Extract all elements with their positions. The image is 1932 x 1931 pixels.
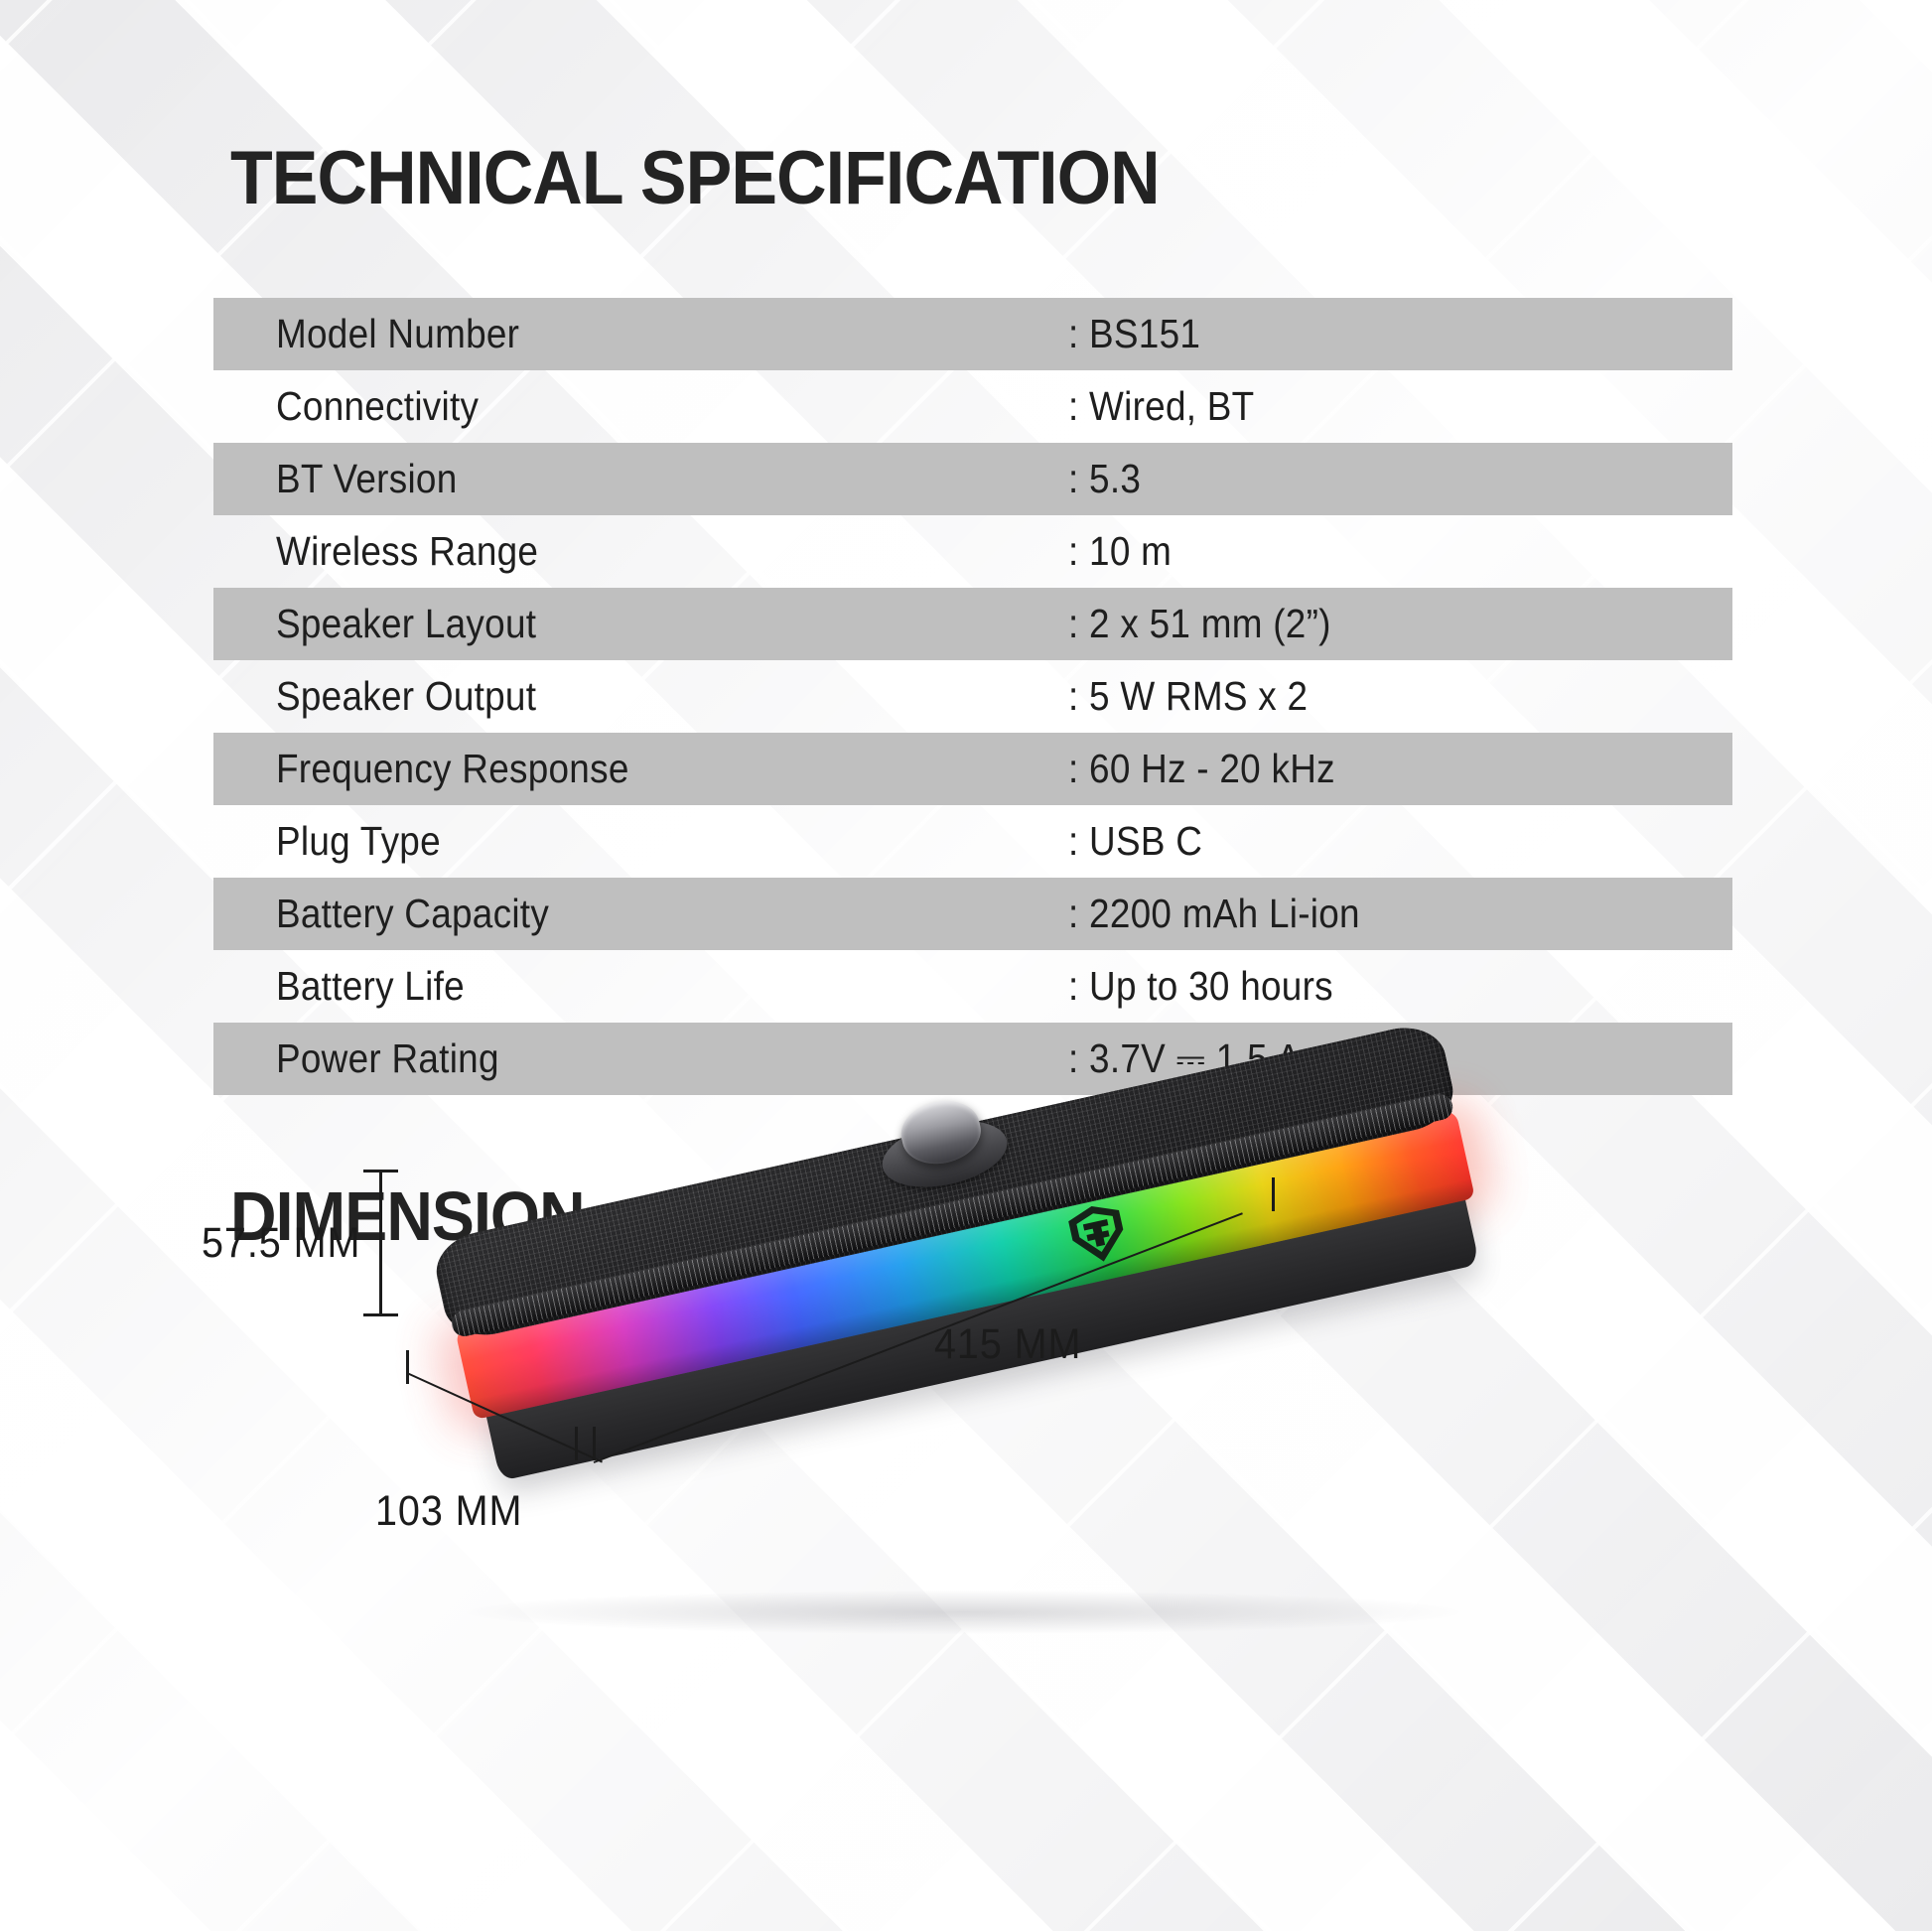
page-title-technical-specification: TECHNICAL SPECIFICATION bbox=[230, 135, 1160, 221]
spec-sheet-page: TECHNICAL SPECIFICATION Model Number : B… bbox=[0, 0, 1932, 1931]
height-dimension-cap-bottom bbox=[363, 1313, 398, 1316]
width-dimension-cap-left bbox=[593, 1427, 596, 1460]
depth-dimension-label: 103 MM bbox=[375, 1487, 522, 1536]
spec-label: Speaker Output bbox=[276, 673, 536, 720]
table-row: Plug Type : USB C bbox=[213, 805, 1732, 878]
spec-value: : 2200 mAh Li-ion bbox=[1068, 891, 1360, 937]
spec-value: : Wired, BT bbox=[1068, 383, 1254, 430]
table-row: Power Rating : 3.7V ⎓ 1.5 A bbox=[213, 1023, 1732, 1095]
table-row: BT Version : 5.3 bbox=[213, 443, 1732, 515]
spec-label: Wireless Range bbox=[276, 528, 538, 575]
spec-label: Connectivity bbox=[276, 383, 479, 430]
spec-label: Frequency Response bbox=[276, 746, 629, 792]
spec-label: Power Rating bbox=[276, 1035, 499, 1082]
width-dimension-label: 415 MM bbox=[934, 1320, 1081, 1369]
spec-label: Plug Type bbox=[276, 818, 441, 865]
table-row: Connectivity : Wired, BT bbox=[213, 370, 1732, 443]
spec-label: Model Number bbox=[276, 311, 519, 357]
height-dimension-label: 57.5 MM bbox=[202, 1219, 360, 1268]
depth-dimension-cap-right bbox=[575, 1427, 578, 1460]
table-row: Speaker Layout : 2 x 51 mm (2”) bbox=[213, 588, 1732, 660]
spec-label: Battery Capacity bbox=[276, 891, 549, 937]
spec-value: : 10 m bbox=[1068, 528, 1172, 575]
table-row: Battery Capacity : 2200 mAh Li-ion bbox=[213, 878, 1732, 950]
spec-label: Speaker Layout bbox=[276, 601, 536, 647]
height-dimension-cap-top bbox=[363, 1170, 398, 1172]
height-dimension-line bbox=[379, 1170, 382, 1316]
width-dimension-cap-right bbox=[1272, 1177, 1275, 1211]
spec-value: : 5 W RMS x 2 bbox=[1068, 673, 1308, 720]
spec-value: : 5.3 bbox=[1068, 456, 1141, 502]
product-shadow bbox=[467, 1590, 1459, 1634]
spec-value: : USB C bbox=[1068, 818, 1202, 865]
table-row: Speaker Output : 5 W RMS x 2 bbox=[213, 660, 1732, 733]
spec-label: Battery Life bbox=[276, 963, 465, 1010]
spec-label: BT Version bbox=[276, 456, 458, 502]
spec-value: : Up to 30 hours bbox=[1068, 963, 1333, 1010]
table-row: Battery Life : Up to 30 hours bbox=[213, 950, 1732, 1023]
table-row: Frequency Response : 60 Hz - 20 kHz bbox=[213, 733, 1732, 805]
table-row: Wireless Range : 10 m bbox=[213, 515, 1732, 588]
spec-value: : BS151 bbox=[1068, 311, 1200, 357]
spec-value: : 60 Hz - 20 kHz bbox=[1068, 746, 1335, 792]
spec-value: : 2 x 51 mm (2”) bbox=[1068, 601, 1331, 647]
table-row: Model Number : BS151 bbox=[213, 298, 1732, 370]
specification-table: Model Number : BS151 Connectivity : Wire… bbox=[213, 298, 1732, 1095]
depth-dimension-cap-left bbox=[406, 1350, 409, 1384]
